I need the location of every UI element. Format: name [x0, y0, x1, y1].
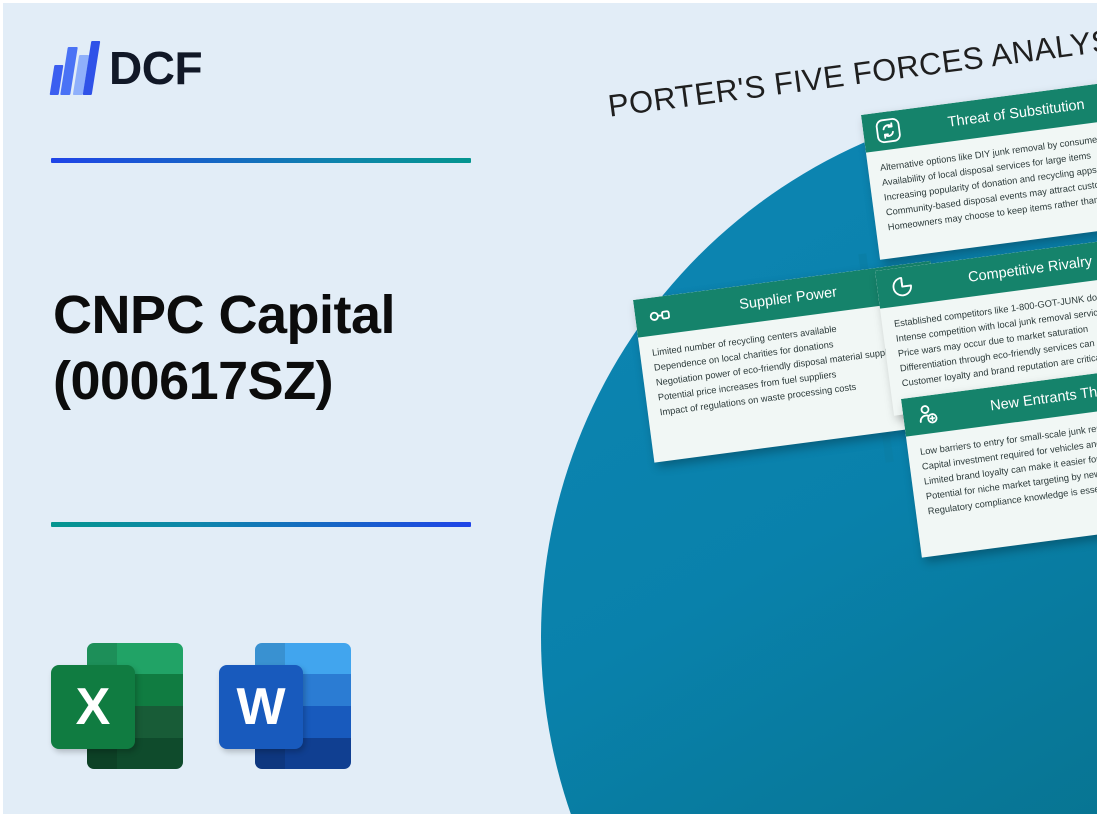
divider-top [51, 158, 471, 163]
force-card-substitution[interactable]: Threat of Substitution Alternative optio… [861, 76, 1100, 260]
word-file-icon[interactable]: W [219, 643, 351, 769]
pie-chart-icon [888, 272, 917, 301]
bar-chart-logo-icon [51, 41, 95, 95]
word-letter: W [219, 665, 303, 749]
brand-logo[interactable]: DCF [51, 41, 202, 95]
poster-canvas: DCF CNPC Capital (000617SZ) X W PORTER'S… [0, 0, 1100, 817]
brand-name: DCF [109, 45, 202, 91]
excel-file-icon[interactable]: X [51, 643, 183, 769]
divider-bottom [51, 522, 471, 527]
excel-letter: X [51, 665, 135, 749]
page-title: CNPC Capital (000617SZ) [53, 283, 523, 415]
chain-link-icon [646, 301, 675, 330]
refresh-cycle-icon [874, 116, 903, 145]
add-user-icon [914, 400, 943, 429]
download-format-icons: X W [51, 643, 351, 769]
page-title-line2: (000617SZ) [53, 349, 523, 415]
page-title-line1: CNPC Capital [53, 285, 395, 345]
